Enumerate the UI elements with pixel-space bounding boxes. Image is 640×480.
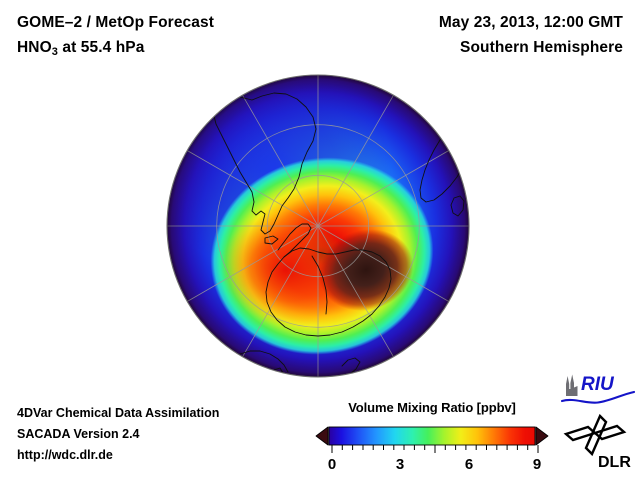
colorbar-title: Volume Mixing Ratio [ppbv] — [312, 400, 552, 415]
colorbar-over-arrow — [536, 427, 548, 445]
colorbar-tick-3: 9 — [533, 456, 541, 473]
header-left: GOME–2 / MetOp Forecast HNO3 at 55.4 hPa — [17, 10, 214, 65]
credit-version: SACADA Version 2.4 — [17, 424, 219, 445]
dlr-wordmark: DLR — [598, 454, 631, 471]
credit-url[interactable]: http://wdc.dlr.de — [17, 445, 219, 466]
polar-projection-map — [166, 74, 470, 378]
credits-block: 4DVar Chemical Data Assimilation SACADA … — [17, 403, 219, 466]
colorbar-tick-1: 3 — [396, 456, 404, 473]
dlr-logo: DLR — [562, 414, 634, 472]
limb-shading — [167, 75, 469, 377]
colorbar-tick-0: 0 — [328, 456, 336, 473]
riu-logo: RIU — [560, 372, 636, 406]
species-name: HNO — [17, 39, 52, 56]
colorbar-ticks — [332, 445, 538, 453]
credit-method: 4DVar Chemical Data Assimilation — [17, 403, 219, 424]
header-right: May 23, 2013, 12:00 GMT Southern Hemisph… — [439, 10, 623, 60]
page-title: GOME–2 / MetOp Forecast — [17, 10, 214, 35]
colorbar-gradient — [329, 427, 535, 445]
species-level-label: HNO3 at 55.4 hPa — [17, 35, 214, 65]
pressure-level: at 55.4 hPa — [58, 39, 145, 56]
cathedral-icon — [566, 375, 578, 397]
colorbar-tick-labels: 0 3 6 9 — [328, 456, 541, 473]
colorbar-under-arrow — [316, 427, 328, 445]
colorbar: 0 3 6 9 — [312, 419, 552, 479]
dlr-mark-icon — [566, 416, 624, 454]
riu-wordmark: RIU — [581, 374, 615, 395]
timestamp-label: May 23, 2013, 12:00 GMT — [439, 10, 623, 35]
hemisphere-label: Southern Hemisphere — [439, 35, 623, 60]
colorbar-block: Volume Mixing Ratio [ppbv] — [312, 400, 552, 479]
colorbar-tick-2: 6 — [465, 456, 473, 473]
